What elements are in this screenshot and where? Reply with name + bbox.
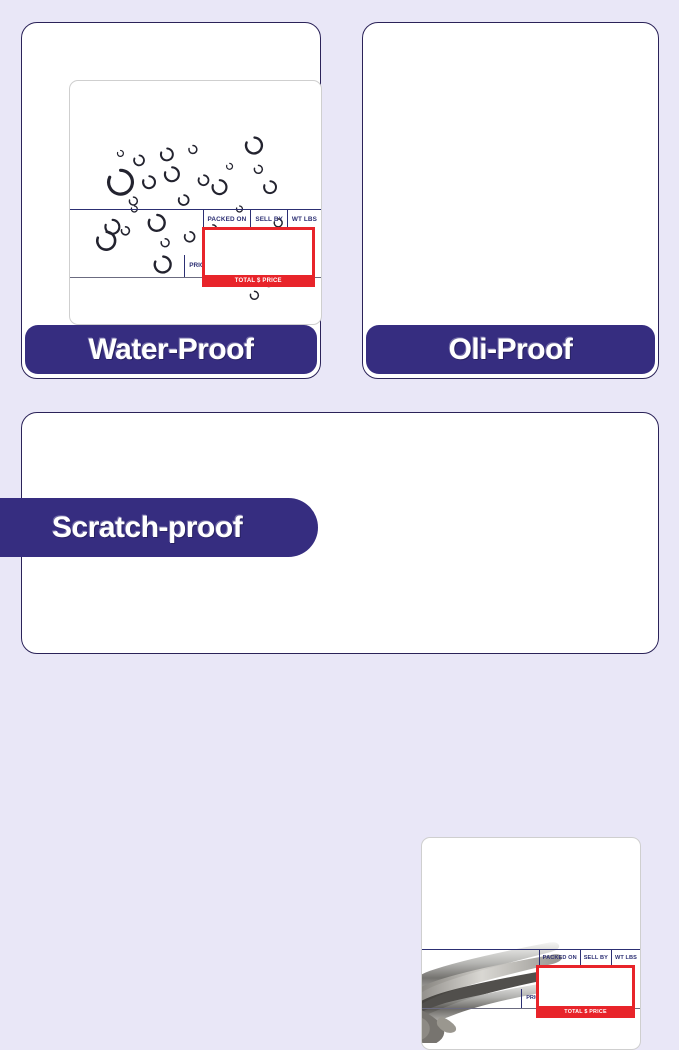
water-droplets-art <box>70 81 321 324</box>
infographic-stage: PACKED ON SELL BY WT LBS PRICE PER LB TO… <box>0 0 679 679</box>
scale-label-scratch: PACKED ON SELL BY WT LBS PRICE PER LB TO… <box>421 837 641 1050</box>
label-total-price-text: TOTAL $ PRICE <box>202 275 315 287</box>
label-total-price-box: TOTAL $ PRICE <box>202 227 315 278</box>
label-total-price-box: TOTAL $ PRICE <box>536 965 634 1009</box>
banner-scratch-proof: Scratch-proof <box>0 498 318 557</box>
banner-oil-proof-label: Oli-Proof <box>449 333 573 367</box>
label-total-price-text: TOTAL $ PRICE <box>536 1006 634 1018</box>
banner-scratch-proof-label: Scratch-proof <box>52 511 242 545</box>
banner-oil-proof: Oli-Proof <box>366 325 655 374</box>
banner-water-proof-label: Water-Proof <box>88 333 253 367</box>
scale-label-water: PACKED ON SELL BY WT LBS PRICE PER LB TO… <box>69 80 322 325</box>
banner-water-proof: Water-Proof <box>25 325 317 374</box>
